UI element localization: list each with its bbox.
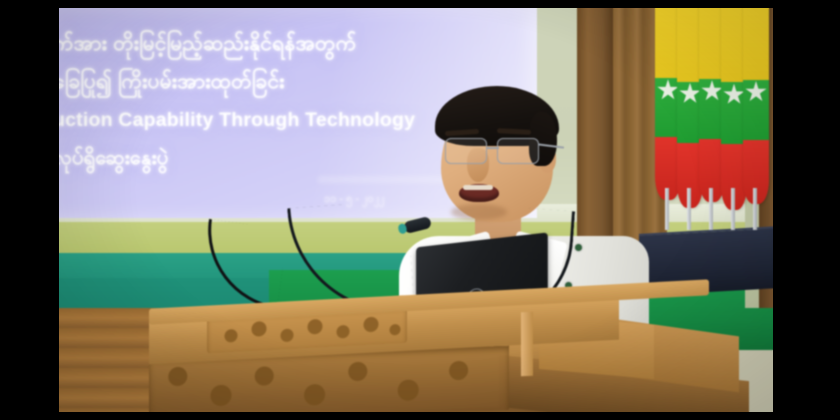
video-frame-container: က်အား တိုးမြင့်မြည့်ဆည်းနိုင်ရန်အတွက် ခြ… — [0, 0, 840, 420]
letterbox-bar-bottom — [0, 412, 840, 420]
flag-pole — [665, 188, 669, 230]
jacket-button — [575, 244, 582, 251]
letterbox-bar-right — [773, 0, 840, 420]
photograph-viewport: က်အား တိုးမြင့်မြည့်ဆည်းနိုင်ရန်အတွက် ခြ… — [59, 8, 773, 412]
speaker-mouth-open — [459, 184, 499, 202]
flag-pole — [731, 188, 735, 230]
letterbox-bar-left — [0, 0, 59, 420]
speaker-teeth — [463, 185, 493, 190]
flag-pole — [687, 188, 691, 230]
slide-line-1-burmese: က်အား တိုးမြင့်မြည့်ဆည်းနိုင်ရန်အတွက် — [59, 30, 537, 61]
eyeglass-bridge — [487, 147, 499, 149]
eyeglasses-icon — [439, 138, 557, 164]
flag-pole — [709, 188, 713, 230]
podium-corner-edge — [521, 312, 533, 376]
letterbox-bar-top — [0, 0, 840, 8]
flag-stripe-yellow — [743, 8, 769, 80]
eyeglass-temple-arm — [538, 143, 564, 148]
eyeglass-lens-left — [445, 138, 487, 164]
myanmar-flag-icon — [743, 8, 769, 204]
flag-pole — [753, 188, 757, 230]
eyeglass-lens-right — [497, 138, 539, 164]
flag-group-myanmar — [655, 8, 765, 254]
carved-wooden-podium — [149, 294, 749, 412]
